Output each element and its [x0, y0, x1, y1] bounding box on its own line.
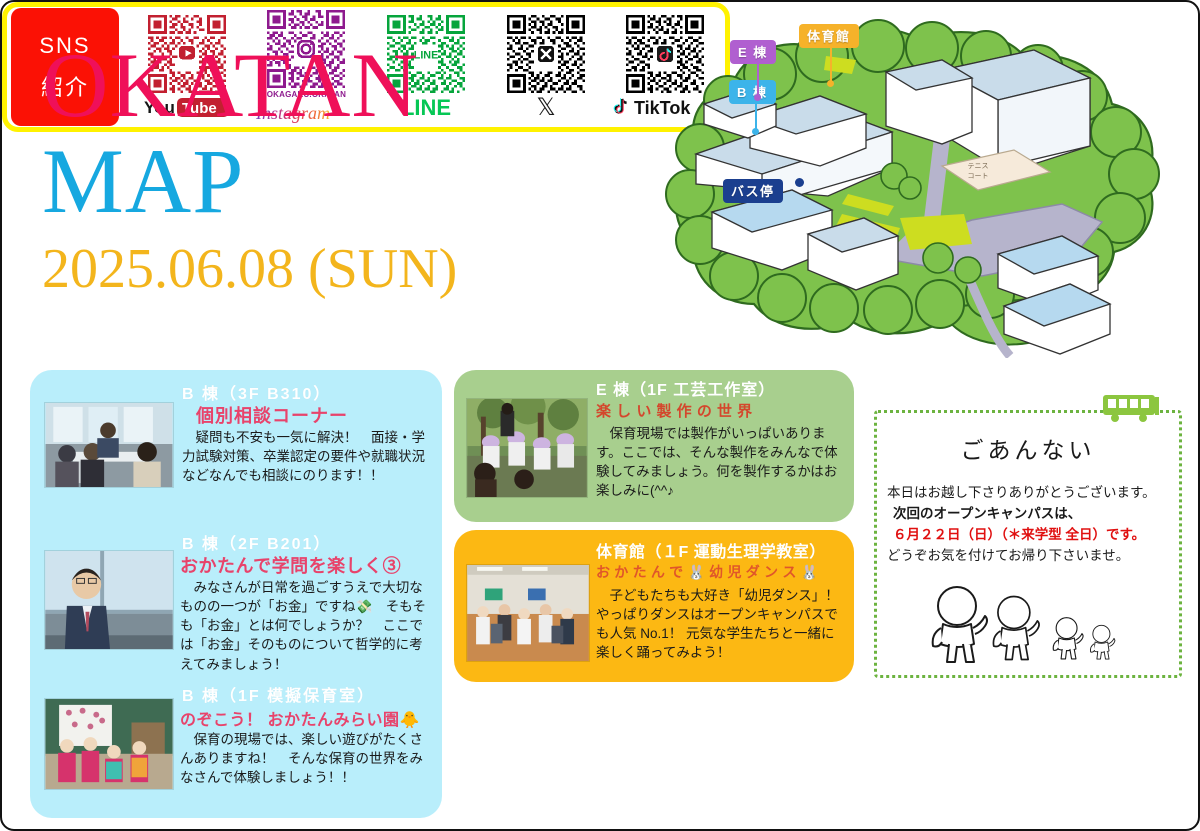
session-body: 疑問も不安も一気に解決！ 面接・学力試験対策、卒業認定の要件や就職状況などなんで…	[182, 428, 434, 485]
session-headline: おかたんで学問を楽しく③	[180, 552, 436, 578]
list-item: B 棟（2F B201） おかたんで学問を楽しく③ みなさんが日常を過ごすうえで…	[30, 528, 442, 673]
map-label-gymnasium: 体育館	[799, 24, 859, 48]
thumbnail-craft-outdoor	[466, 398, 588, 498]
guide-line-1: 次回のオープンキャンパスは、	[877, 504, 1179, 525]
sns-label-x: 𝕏	[528, 95, 564, 119]
svg-text:テニス: テニス	[968, 162, 989, 170]
map-dot-gym	[827, 80, 834, 87]
orange-info-panel: 体育館（１F 運動生理学教室） お か た ん で 🐰 幼 児 ダ ン ス 🐰 …	[454, 530, 854, 682]
venue-label: B 棟（3F B310）	[182, 380, 434, 404]
session-headline: のぞこう！ おかたんみらい園🐥	[180, 706, 436, 730]
venue-label: 体育館（１F 運動生理学教室）	[596, 538, 846, 562]
venue-label: E 棟（1F 工芸工作室）	[596, 376, 846, 400]
thumbnail-nursery	[44, 698, 174, 790]
title-okatan: OKATAN	[42, 40, 457, 130]
map-stem-gym	[830, 48, 832, 82]
poster-page: OKATAN MAP 2025.06.08 (SUN)	[0, 0, 1200, 831]
map-dot-b	[752, 128, 759, 135]
guide-title: ごあんない	[877, 431, 1179, 465]
thumbnail-lecturer	[44, 550, 174, 650]
map-stem-e	[757, 64, 759, 96]
page-title: OKATAN MAP 2025.06.08 (SUN)	[42, 40, 457, 297]
session-headline: 個別相談コーナー	[196, 402, 438, 428]
session-body: 保育現場では製作がいっぱいあります。ここでは、そんな製作をみんなで体験してみまし…	[596, 424, 846, 501]
session-body: みなさんが日常を過ごすうえで大切なものの一つが「お金」ですね💸 そもそも「お金」…	[180, 578, 436, 674]
list-item: B 棟（1F 模擬保育室） のぞこう！ おかたんみらい園🐥 保育の現場では、楽し…	[30, 680, 442, 815]
sns-item-x[interactable]: 𝕏	[487, 15, 605, 119]
green-info-panel: E 棟（1F 工芸工作室） 楽 し い 製 作 の 世 界 保育現場では製作がい…	[454, 370, 854, 522]
venue-label: B 棟（1F 模擬保育室）	[182, 682, 434, 706]
guide-line-2: ６月２２日（日）（＊来学型 全日）です。	[877, 525, 1179, 546]
session-headline: 楽 し い 製 作 の 世 界	[596, 400, 846, 421]
session-body: 保育の現場では、楽しい遊びがたくさんありますね！ そんな保育の世界をみなさんで体…	[180, 730, 436, 787]
map-label-b-building: B 棟	[729, 80, 776, 104]
qr-code-x[interactable]	[507, 15, 585, 93]
thumbnail-dance	[466, 564, 590, 662]
session-headline: お か た ん で 🐰 幼 児 ダ ン ス 🐰	[596, 562, 846, 582]
guide-line-3: どうぞお気を付けてお帰り下さいませ。	[877, 546, 1179, 567]
map-dot-bus	[795, 178, 804, 187]
map-label-e-building: E 棟	[730, 40, 776, 64]
map-stem-b	[755, 104, 757, 130]
list-item: B 棟（3F B310） 個別相談コーナー 疑問も不安も一気に解決！ 面接・学力…	[30, 376, 442, 521]
svg-text:𝕏: 𝕏	[536, 94, 555, 120]
guide-panel: ごあんない 本日はお越し下さりありがとうございます。 次回のオープンキャンパスは…	[874, 410, 1182, 678]
session-body: 子どもたちも大好き「幼児ダンス」！やっぱりダンスはオープンキャンパスでも人気 N…	[596, 586, 846, 663]
thumbnail-consultation	[44, 402, 174, 488]
event-date: 2025.06.08 (SUN)	[42, 242, 457, 297]
waving-people-icon	[925, 584, 1137, 671]
blue-info-panel: B 棟（3F B310） 個別相談コーナー 疑問も不安も一気に解決！ 面接・学力…	[30, 370, 442, 818]
map-label-bus-stop: バス停	[723, 179, 783, 203]
map-dot-e	[754, 94, 761, 101]
bus-icon	[1101, 391, 1165, 430]
title-map: MAP	[42, 136, 457, 226]
svg-text:コート: コート	[968, 172, 989, 180]
venue-label: B 棟（2F B201）	[182, 530, 434, 554]
guide-line-0: 本日はお越し下さりありがとうございます。	[877, 483, 1179, 504]
